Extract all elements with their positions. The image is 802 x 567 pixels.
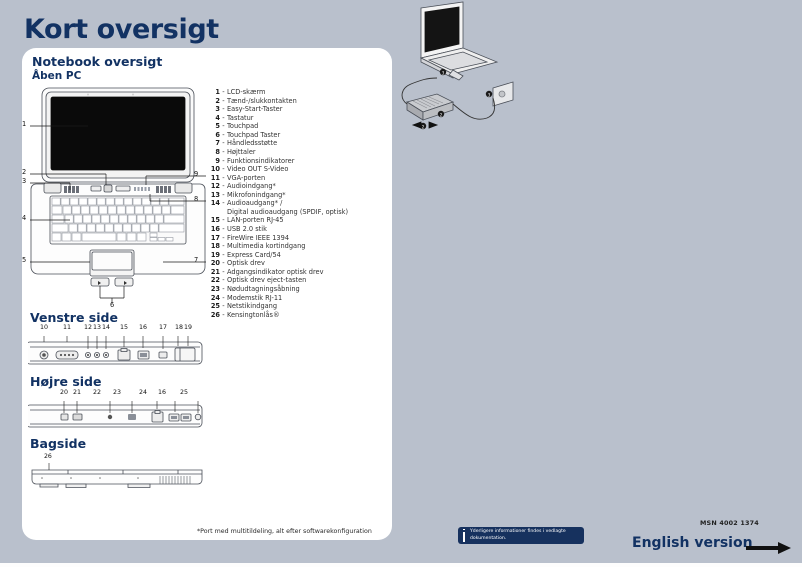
legend-number: 20 <box>206 259 220 268</box>
legend-number: 17 <box>206 234 220 243</box>
legend-label: Optisk drev <box>227 259 381 268</box>
legend-dash: - <box>220 276 227 285</box>
heading-left-side: Venstre side <box>30 310 118 325</box>
legend-number: 6 <box>206 131 220 140</box>
callout-22: 22 <box>93 389 101 396</box>
legend-item: 26-Kensingtonlås® <box>206 311 381 320</box>
legend-dash: - <box>220 148 227 157</box>
legend-number: 11 <box>206 174 220 183</box>
legend-dash: - <box>220 294 227 303</box>
legend-number: 15 <box>206 216 220 225</box>
legend-label: FireWire IEEE 1394 <box>227 234 381 243</box>
callout-3: 3 <box>22 177 26 185</box>
legend-label: Easy-Start-Taster <box>227 105 381 114</box>
page-root: Kort oversigt Notebook oversigt Åben PC <box>0 0 802 567</box>
callout-21: 21 <box>73 389 81 396</box>
legend-item: 13-Mikrofonindgang* <box>206 191 381 200</box>
legend-label: Håndledsstøtte <box>227 139 381 148</box>
legend-number: 1 <box>206 88 220 97</box>
legend-number: 3 <box>206 105 220 114</box>
legend-dash: - <box>220 191 227 200</box>
callout-12: 12 <box>84 324 92 331</box>
heading-back-side: Bagside <box>30 436 86 451</box>
legend-number: 22 <box>206 276 220 285</box>
open-pc-illustration <box>28 86 208 308</box>
legend-dash: - <box>220 165 227 174</box>
heading-right-side: Højre side <box>30 374 101 389</box>
legend-dash: - <box>220 122 227 131</box>
legend-number: 23 <box>206 285 220 294</box>
right-side-illustration <box>28 399 203 433</box>
legend-item: 21-Adgangsindikator optisk drev <box>206 268 381 277</box>
callout-16: 16 <box>139 324 147 331</box>
legend-dash: - <box>220 234 227 243</box>
legend-dash: - <box>220 174 227 183</box>
callout-5: 5 <box>22 256 26 264</box>
info-note-text: Yderligere informationer findes i vedlag… <box>470 529 580 542</box>
legend-dash: - <box>220 182 227 191</box>
legend-item: 3-Easy-Start-Taster <box>206 105 381 114</box>
legend-item: 11-VGA-porten <box>206 174 381 183</box>
heading-open-pc: Åben PC <box>32 70 81 82</box>
legend-number: 4 <box>206 114 220 123</box>
legend-label: LCD-skærm <box>227 88 381 97</box>
legend-item: 9-Funktionsindikatorer <box>206 157 381 166</box>
legend-label: Express Card/54 <box>227 251 381 260</box>
legend-dash: - <box>220 139 227 148</box>
legend-number: 8 <box>206 148 220 157</box>
legend-label: Højttaler <box>227 148 381 157</box>
heading-notebook-overview: Notebook oversigt <box>32 54 162 69</box>
legend-number: 16 <box>206 225 220 234</box>
legend-number: 13 <box>206 191 220 200</box>
callout-25: 25 <box>180 389 188 396</box>
right-column: Kort vejledning Strømforsyning Se også d… <box>401 0 802 567</box>
legend-label: Adgangsindikator optisk drev <box>227 268 381 277</box>
legend-item: 5-Touchpad <box>206 122 381 131</box>
legend-dash: - <box>220 114 227 123</box>
legend-label: Nødudtagningsåbning <box>227 285 381 294</box>
legend-number: 7 <box>206 139 220 148</box>
callout-19: 19 <box>184 324 192 331</box>
power-adapter-illustration: 3 3 2 2 <box>401 0 527 140</box>
legend-item: 22-Optisk drev eject-tasten <box>206 276 381 285</box>
legend-item-continuation: Digital audioaudgang (SPDIF, optisk) <box>206 208 381 217</box>
legend-label: Modemstik RJ-11 <box>227 294 381 303</box>
legend-label: Multimedia kortindgang <box>227 242 381 251</box>
legend-label: Tænd-/slukkontakten <box>227 97 381 106</box>
legend-dash: - <box>220 259 227 268</box>
legend-item: 1-LCD-skærm <box>206 88 381 97</box>
legend-dash: - <box>220 268 227 277</box>
legend-item: 12-Audioindgang* <box>206 182 381 191</box>
legend-label: Optisk drev eject-tasten <box>227 276 381 285</box>
legend-dash: - <box>220 251 227 260</box>
legend-dash: - <box>220 199 227 208</box>
left-side-illustration <box>28 334 203 370</box>
legend-label: VGA-porten <box>227 174 381 183</box>
legend-label: Netstikindgang <box>227 302 381 311</box>
bottom-white-strip <box>0 563 802 567</box>
legend-dash: - <box>220 285 227 294</box>
legend-number: 10 <box>206 165 220 174</box>
svg-text:2: 2 <box>422 125 425 130</box>
legend-dash: - <box>220 216 227 225</box>
svg-text:2: 2 <box>440 113 443 118</box>
legend-number: 21 <box>206 268 220 277</box>
legend-dash: - <box>220 311 227 320</box>
callout-7: 7 <box>194 256 198 264</box>
legend-item: 23-Nødudtagningsåbning <box>206 285 381 294</box>
page-title-left: Kort oversigt <box>24 14 219 45</box>
legend-label: Kensingtonlås® <box>227 311 381 320</box>
legend-item: 15-LAN-porten RJ-45 <box>206 216 381 225</box>
legend-dash: - <box>220 97 227 106</box>
english-version-label: English version <box>632 535 753 551</box>
legend-item: 20-Optisk drev <box>206 259 381 268</box>
callout-11: 11 <box>63 324 71 331</box>
legend-dash: - <box>220 88 227 97</box>
left-column: Kort oversigt Notebook oversigt Åben PC <box>0 0 401 567</box>
legend-label: Audioaudgang* / <box>227 199 381 208</box>
callout-1: 1 <box>22 120 26 128</box>
callout-23: 23 <box>113 389 121 396</box>
legend-label: Funktionsindikatorer <box>227 157 381 166</box>
legend-dash: - <box>220 157 227 166</box>
callout-13: 13 <box>93 324 101 331</box>
callout-26: 26 <box>44 453 52 460</box>
legend-number: 9 <box>206 157 220 166</box>
legend-label: USB 2.0 stik <box>227 225 381 234</box>
legend-number: 5 <box>206 122 220 131</box>
callout-6: 6 <box>110 301 114 309</box>
callout-17: 17 <box>159 324 167 331</box>
svg-text:3: 3 <box>488 93 491 98</box>
legend-label: Touchpad <box>227 122 381 131</box>
callout-15: 15 <box>120 324 128 331</box>
legend-number: 14 <box>206 199 220 208</box>
legend-number: 18 <box>206 242 220 251</box>
legend-item: 4-Tastatur <box>206 114 381 123</box>
callout-16b: 16 <box>158 389 166 396</box>
legend-item: 18-Multimedia kortindgang <box>206 242 381 251</box>
callout-10: 10 <box>40 324 48 331</box>
legend-item: 25-Netstikindgang <box>206 302 381 311</box>
legend-number: 25 <box>206 302 220 311</box>
callout-8: 8 <box>194 195 198 203</box>
left-panel-footnote: *Port med multitildeling, alt efter soft… <box>197 528 372 535</box>
legend-number: 19 <box>206 251 220 260</box>
legend-dash: - <box>220 242 227 251</box>
msn-number: MSN 4002 1374 <box>700 519 759 527</box>
callout-4: 4 <box>22 214 26 222</box>
legend-item: 14-Audioaudgang* / <box>206 199 381 208</box>
svg-text:3: 3 <box>442 71 445 76</box>
legend-label: Video OUT S-Video <box>227 165 381 174</box>
info-note-box: Yderligere informationer findes i vedlag… <box>458 527 584 544</box>
legend-dash: - <box>220 131 227 140</box>
callout-14: 14 <box>102 324 110 331</box>
legend-label: Mikrofonindgang* <box>227 191 381 200</box>
callout-2: 2 <box>22 168 26 176</box>
callout-9: 9 <box>194 170 198 178</box>
legend-item: 24-Modemstik RJ-11 <box>206 294 381 303</box>
legend-number: 12 <box>206 182 220 191</box>
legend-item: 17-FireWire IEEE 1394 <box>206 234 381 243</box>
arrow-right-icon <box>746 541 792 555</box>
legend-number: 26 <box>206 311 220 320</box>
component-legend-list: 1-LCD-skærm2-Tænd-/slukkontakten3-Easy-S… <box>206 88 381 319</box>
legend-item: 19-Express Card/54 <box>206 251 381 260</box>
callout-20: 20 <box>60 389 68 396</box>
legend-label: LAN-porten RJ-45 <box>227 216 381 225</box>
legend-item: 2-Tænd-/slukkontakten <box>206 97 381 106</box>
legend-number: 24 <box>206 294 220 303</box>
legend-item: 8-Højttaler <box>206 148 381 157</box>
legend-item: 10-Video OUT S-Video <box>206 165 381 174</box>
info-icon-dot <box>463 530 465 532</box>
legend-dash: - <box>220 302 227 311</box>
legend-item: 7-Håndledsstøtte <box>206 139 381 148</box>
legend-label: Audioindgang* <box>227 182 381 191</box>
callout-24: 24 <box>139 389 147 396</box>
back-side-illustration <box>28 462 206 494</box>
legend-dash: - <box>220 105 227 114</box>
legend-number: 2 <box>206 97 220 106</box>
legend-label: Tastatur <box>227 114 381 123</box>
callout-18: 18 <box>175 324 183 331</box>
legend-item: 16-USB 2.0 stik <box>206 225 381 234</box>
legend-dash: - <box>220 225 227 234</box>
